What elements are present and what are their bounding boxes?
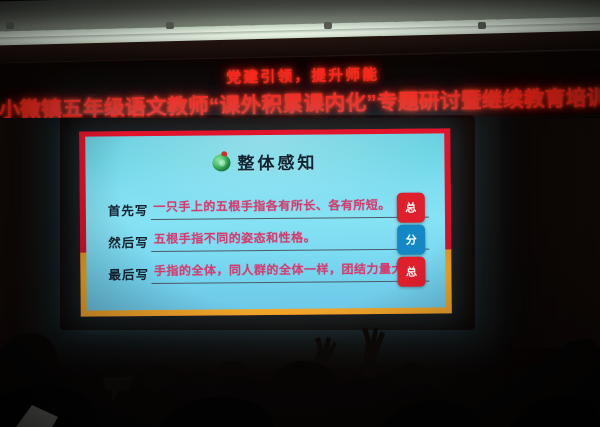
row-answer: 一只手上的五根手指各有所长、各有所短。: [150, 196, 391, 215]
auditorium-photo-scene: 党建引领，提升师能 小微镇五年级语文教师“课外积累课内化”专题研讨暨继续教育培训…: [0, 0, 600, 427]
lamp-clip: [6, 22, 14, 29]
row-answer: 五根手指不同的姿态和性格。: [151, 229, 317, 247]
structure-badge-zong-2: 总: [397, 257, 425, 287]
row-label: 然后写: [108, 232, 149, 251]
slide-row: 然后写 五根手指不同的姿态和性格。: [108, 223, 435, 258]
row-label: 最后写: [108, 264, 149, 283]
row-label: 首先写: [108, 200, 149, 219]
lamp-clip: [166, 22, 174, 29]
row-blank-line: 一只手上的五根手指各有所长、各有所短。: [150, 196, 429, 219]
structure-badge-fen: 分: [397, 225, 425, 255]
slide-row: 最后写 手指的全体，同人群的全体一样，团结力量大。: [108, 255, 435, 290]
stage-wall-left: [0, 118, 70, 348]
structure-badge-zong-1: 总: [397, 193, 425, 223]
green-apple-icon: [212, 152, 231, 171]
slide-row: 首先写 一只手上的五根手指各有所长、各有所短。: [108, 191, 435, 226]
stage-wall-right: [500, 118, 600, 348]
presentation-slide: 整体感知 首先写 一只手上的五根手指各有所长、各有所短。 然后写 五根手指不同的…: [85, 133, 446, 310]
led-banner: 党建引领，提升师能 小微镇五年级语文教师“课外积累课内化”专题研讨暨继续教育培训: [0, 50, 600, 129]
row-blank-line: 五根手指不同的姿态和性格。: [151, 228, 430, 251]
projection-screen-frame: 整体感知 首先写 一只手上的五根手指各有所长、各有所短。 然后写 五根手指不同的…: [79, 128, 452, 316]
slide-rows: 首先写 一只手上的五根手指各有所长、各有所短。 然后写 五根手指不同的姿态和性格…: [108, 191, 436, 290]
slide-title: 整体感知: [85, 147, 444, 175]
row-answer: 手指的全体，同人群的全体一样，团结力量大。: [151, 260, 417, 279]
slide-title-text: 整体感知: [237, 149, 317, 175]
row-blank-line: 手指的全体，同人群的全体一样，团结力量大。: [151, 260, 430, 283]
lamp-clip: [478, 22, 486, 29]
lamp-clip: [324, 22, 332, 29]
